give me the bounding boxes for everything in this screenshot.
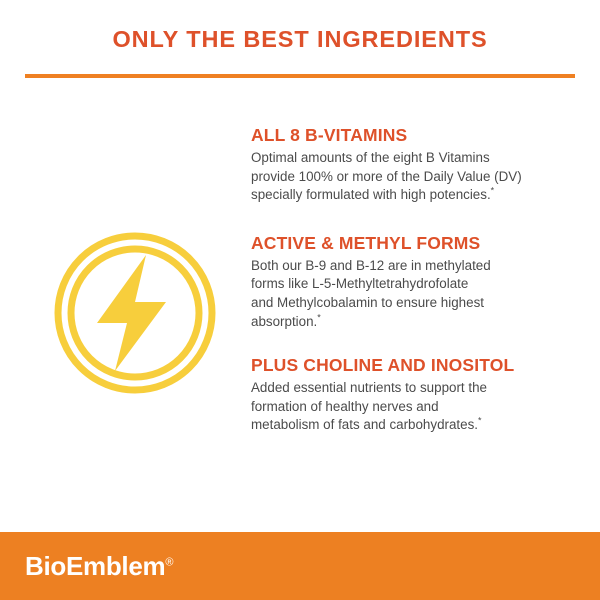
- header: ONLY THE BEST INGREDIENTS: [0, 0, 600, 78]
- section-plus-choline-and-inositol: PLUS CHOLINE AND INOSITOL Added essentia…: [251, 355, 571, 435]
- footer-brand-bar: BioEmblem®: [0, 532, 600, 600]
- section-body: Added essential nutrients to support the…: [251, 379, 571, 435]
- body-line-with-footnote: metabolism of fats and carbohydrates.*: [251, 416, 571, 435]
- body-line: Optimal amounts of the eight B Vitamins: [251, 149, 571, 168]
- footnote-marker: *: [491, 186, 495, 196]
- section-body: Optimal amounts of the eight B Vitamins …: [251, 149, 571, 205]
- footnote-marker: *: [478, 416, 482, 426]
- section-body: Both our B-9 and B-12 are in methylated …: [251, 257, 571, 331]
- ingredients-infographic: ONLY THE BEST INGREDIENTS ALL 8 B-VITAMI…: [0, 0, 600, 600]
- footnote-marker: *: [317, 312, 321, 322]
- registered-trademark-icon: ®: [165, 556, 173, 568]
- body-line: forms like L-5-Methyltetrahydrofolate: [251, 275, 571, 294]
- body-line: and Methylcobalamin to ensure highest: [251, 294, 571, 313]
- body-line-with-footnote: absorption.*: [251, 313, 571, 332]
- section-all-8-b-vitamins: ALL 8 B-VITAMINS Optimal amounts of the …: [251, 125, 571, 205]
- body-line: formation of healthy nerves and: [251, 398, 571, 417]
- body-line-with-footnote: specially formulated with high potencies…: [251, 186, 571, 205]
- brand-name: BioEmblem: [25, 551, 165, 581]
- body-line-text: metabolism of fats and carbohydrates.: [251, 417, 478, 432]
- body-line-text: absorption.: [251, 314, 317, 329]
- header-divider: [25, 74, 575, 78]
- section-active-methyl-forms: ACTIVE & METHYL FORMS Both our B-9 and B…: [251, 233, 571, 331]
- body-line: provide 100% or more of the Daily Value …: [251, 168, 571, 187]
- body-line: Both our B-9 and B-12 are in methylated: [251, 257, 571, 276]
- section-heading: PLUS CHOLINE AND INOSITOL: [251, 355, 571, 376]
- section-heading: ACTIVE & METHYL FORMS: [251, 233, 571, 254]
- page-title: ONLY THE BEST INGREDIENTS: [0, 26, 600, 53]
- body-line-text: specially formulated with high potencies…: [251, 187, 491, 202]
- section-heading: ALL 8 B-VITAMINS: [251, 125, 571, 146]
- lightning-bolt-in-double-circle-icon: [53, 231, 217, 395]
- sections-list: ALL 8 B-VITAMINS Optimal amounts of the …: [251, 125, 571, 435]
- body-line: Added essential nutrients to support the: [251, 379, 571, 398]
- brand-logo: BioEmblem®: [25, 551, 173, 582]
